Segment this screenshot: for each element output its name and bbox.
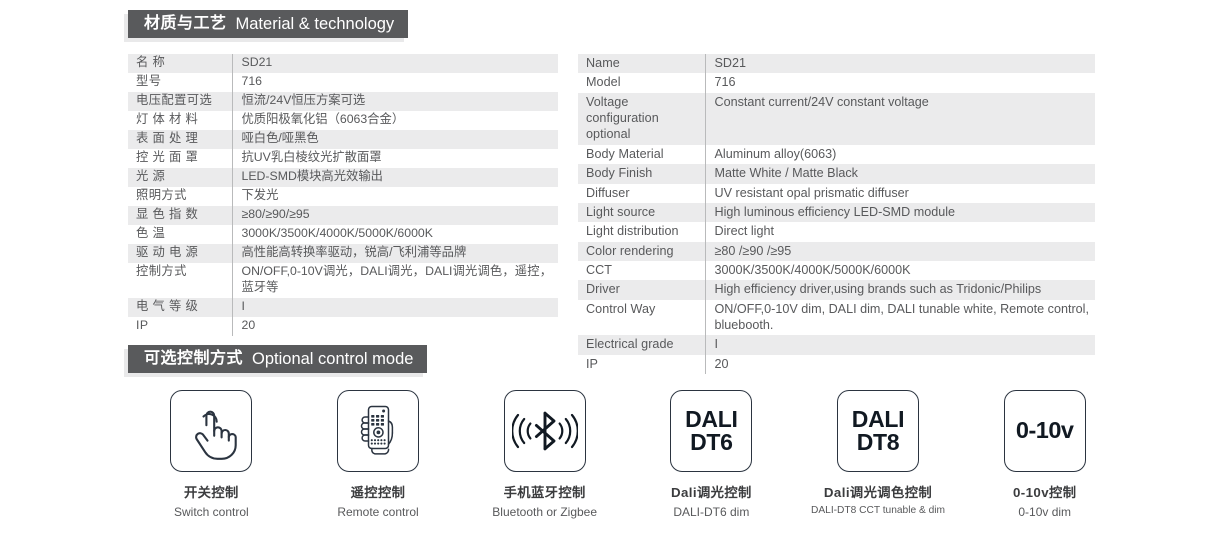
table-row: Model716 [578,73,1095,92]
spec-value: High luminous efficiency LED-SMD module [705,203,1095,222]
badge-line-1: DALI [852,408,904,431]
control-mode-switch[interactable]: 开关控制 Switch control [128,390,295,530]
control-mode-caption: 手机蓝牙控制 Bluetooth or Zigbee [492,486,597,518]
spec-value: 716 [232,73,558,92]
badge-line-2: DT8 [852,431,904,454]
spec-value: 恒流/24V恒压方案可选 [232,92,558,111]
spec-value: ≥80/≥90/≥95 [232,206,558,225]
spec-value: Matte White / Matte Black [705,164,1095,183]
spec-key: Color rendering [578,242,705,261]
spec-value: Direct light [705,222,1095,241]
control-mode-label-en: DALI-DT6 dim [671,506,752,518]
control-mode-label-cn: 遥控控制 [337,486,418,499]
table-row: CCT3000K/3500K/4000K/5000K/6000K [578,261,1095,280]
table-row: 控制方式ON/OFF,0-10V调光，DALI调光，DALI调光调色，遥控，蓝牙… [128,263,558,298]
spec-key: 驱 动 电 源 [128,244,232,263]
table-row: 光 源LED-SMD模块高光效输出 [128,168,558,187]
spec-value: 抗UV乳白棱纹光扩散面罩 [232,149,558,168]
spec-key: 型号 [128,73,232,92]
spec-value: 20 [705,355,1095,374]
control-mode-caption: 0-10v控制 0-10v dim [1013,486,1076,518]
spec-key: IP [128,317,232,336]
table-row: 驱 动 电 源高性能高转换率驱动，锐高/飞利浦等品牌 [128,244,558,263]
spec-key: Name [578,54,705,73]
table-row: IP20 [578,355,1095,374]
control-mode-dali-dt8[interactable]: DALI DT8 Dali调光调色控制 DALI-DT8 CCT tunable… [795,390,962,530]
spec-key: CCT [578,261,705,280]
control-mode-card[interactable] [337,390,419,472]
table-row: Color rendering≥80 /≥90 /≥95 [578,242,1095,261]
control-mode-card[interactable] [170,390,252,472]
spec-key-text: Voltage configuration optional [586,94,699,143]
spec-key: Diffuser [578,184,705,203]
control-mode-card[interactable]: DALI DT6 [670,390,752,472]
spec-value: LED-SMD模块高光效输出 [232,168,558,187]
spec-value: ≥80 /≥90 /≥95 [705,242,1095,261]
dali-dt6-badge-icon: DALI DT6 [685,408,737,455]
spec-value: 20 [232,317,558,336]
spec-key: 控制方式 [128,263,232,298]
control-mode-label-en: DALI-DT8 CCT tunable & dim [811,506,945,516]
zero-to-ten-volt-badge-icon: 0-10v [1016,419,1074,443]
control-mode-dali-dt6[interactable]: DALI DT6 Dali调光控制 DALI-DT6 dim [628,390,795,530]
table-row: 灯 体 材 料优质阳极氧化铝（6063合金） [128,111,558,130]
spec-value: 高性能高转换率驱动，锐高/飞利浦等品牌 [232,244,558,263]
spec-key: Light distribution [578,222,705,241]
spec-value: SD21 [232,54,558,73]
spec-key: 色 温 [128,225,232,244]
spec-key: Light source [578,203,705,222]
section-header-control-cn: 可选控制方式 [144,351,243,367]
spec-key: Electrical grade [578,335,705,354]
control-mode-label-cn: Dali调光控制 [671,486,752,499]
control-mode-caption: 遥控控制 Remote control [337,486,418,518]
table-row: 色 温3000K/3500K/4000K/5000K/6000K [128,225,558,244]
spec-table-chinese: 名 称SD21 型号716 电压配置可选恒流/24V恒压方案可选 灯 体 材 料… [128,54,558,336]
control-mode-label-cn: 手机蓝牙控制 [492,486,597,499]
control-mode-label-en: Bluetooth or Zigbee [492,506,597,518]
spec-value: SD21 [705,54,1095,73]
table-row: DiffuserUV resistant opal prismatic diff… [578,184,1095,203]
spec-key: 电压配置可选 [128,92,232,111]
spec-key: 控 光 面 罩 [128,149,232,168]
control-mode-list: 开关控制 Switch control [128,390,1128,530]
spec-value: 哑白色/哑黑色 [232,130,558,149]
control-mode-bluetooth[interactable]: 手机蓝牙控制 Bluetooth or Zigbee [461,390,628,530]
control-mode-caption: Dali调光控制 DALI-DT6 dim [671,486,752,518]
table-row: 电 气 等 级I [128,298,558,317]
table-row: NameSD21 [578,54,1095,73]
spec-value: Constant current/24V constant voltage [705,93,1095,145]
table-row: 照明方式下发光 [128,187,558,206]
spec-value: 3000K/3500K/4000K/5000K/6000K [232,225,558,244]
section-header-control-en: Optional control mode [252,351,413,368]
table-row: Light sourceHigh luminous efficiency LED… [578,203,1095,222]
spec-value: High efficiency driver,using brands such… [705,280,1095,299]
control-mode-0-10v[interactable]: 0-10v 0-10v控制 0-10v dim [961,390,1128,530]
table-row: 型号716 [128,73,558,92]
table-row: Voltage configuration optionalConstant c… [578,93,1095,145]
table-row: DriverHigh efficiency driver,using brand… [578,280,1095,299]
control-mode-label-en: Switch control [174,506,249,518]
control-mode-card[interactable]: DALI DT8 [837,390,919,472]
control-mode-card[interactable] [504,390,586,472]
spec-value: 3000K/3500K/4000K/5000K/6000K [705,261,1095,280]
spec-value: I [232,298,558,317]
control-mode-card[interactable]: 0-10v [1004,390,1086,472]
table-row: Control WayON/OFF,0-10V dim, DALI dim, D… [578,300,1095,336]
hand-tap-icon [183,402,239,460]
spec-key: 名 称 [128,54,232,73]
control-mode-label-cn: Dali调光调色控制 [811,486,945,499]
spec-value: UV resistant opal prismatic diffuser [705,184,1095,203]
spec-key: Model [578,73,705,92]
table-row: 名 称SD21 [128,54,558,73]
control-mode-label-cn: 开关控制 [174,486,249,499]
spec-key: 照明方式 [128,187,232,206]
spec-value-text: ON/OFF,0-10V调光，DALI调光，DALI调光调色，遥控，蓝牙等 [242,264,553,296]
spec-key: Control Way [578,300,705,336]
control-mode-label-en: Remote control [337,506,418,518]
spec-value: 716 [705,73,1095,92]
spec-key: Voltage configuration optional [578,93,705,145]
table-row: Body MaterialAluminum alloy(6063) [578,145,1095,164]
spec-key: Body Material [578,145,705,164]
badge-line-1: DALI [685,408,737,431]
section-header-material: 材质与工艺 Material & technology [128,10,408,38]
dali-dt8-badge-icon: DALI DT8 [852,408,904,455]
spec-value: ON/OFF,0-10V调光，DALI调光，DALI调光调色，遥控，蓝牙等 [232,263,558,298]
spec-key: 灯 体 材 料 [128,111,232,130]
spec-value: ON/OFF,0-10V dim, DALI dim, DALI tunable… [705,300,1095,336]
section-header-control-mode: 可选控制方式 Optional control mode [128,345,427,373]
badge-line-1: 0-10v [1016,419,1074,443]
table-row: 显 色 指 数≥80/≥90/≥95 [128,206,558,225]
spec-value: Aluminum alloy(6063) [705,145,1095,164]
control-mode-label-en: 0-10v dim [1013,506,1076,518]
control-mode-label-cn: 0-10v控制 [1013,486,1076,499]
control-mode-caption: Dali调光调色控制 DALI-DT8 CCT tunable & dim [811,486,945,517]
table-row: 控 光 面 罩抗UV乳白棱纹光扩散面罩 [128,149,558,168]
table-row: Electrical gradeI [578,335,1095,354]
badge-line-2: DT6 [685,431,737,454]
control-mode-remote[interactable]: 遥控控制 Remote control [295,390,462,530]
spec-value: 优质阳极氧化铝（6063合金） [232,111,558,130]
spec-key: Body Finish [578,164,705,183]
bluetooth-wireless-icon [512,408,578,454]
spec-key: 显 色 指 数 [128,206,232,225]
table-row: Light distributionDirect light [578,222,1095,241]
spec-table-english: NameSD21 Model716 Voltage configuration … [578,54,1095,374]
section-header-material-en: Material & technology [236,16,395,33]
control-mode-caption: 开关控制 Switch control [174,486,249,518]
spec-key: 表 面 处 理 [128,130,232,149]
spec-value: 下发光 [232,187,558,206]
spec-key: IP [578,355,705,374]
table-row: 电压配置可选恒流/24V恒压方案可选 [128,92,558,111]
remote-control-icon [348,401,408,461]
spec-key: Driver [578,280,705,299]
table-row: 表 面 处 理哑白色/哑黑色 [128,130,558,149]
table-row: IP20 [128,317,558,336]
spec-value: I [705,335,1095,354]
section-header-material-cn: 材质与工艺 [144,16,227,32]
spec-key: 电 气 等 级 [128,298,232,317]
table-row: Body FinishMatte White / Matte Black [578,164,1095,183]
spec-key: 光 源 [128,168,232,187]
